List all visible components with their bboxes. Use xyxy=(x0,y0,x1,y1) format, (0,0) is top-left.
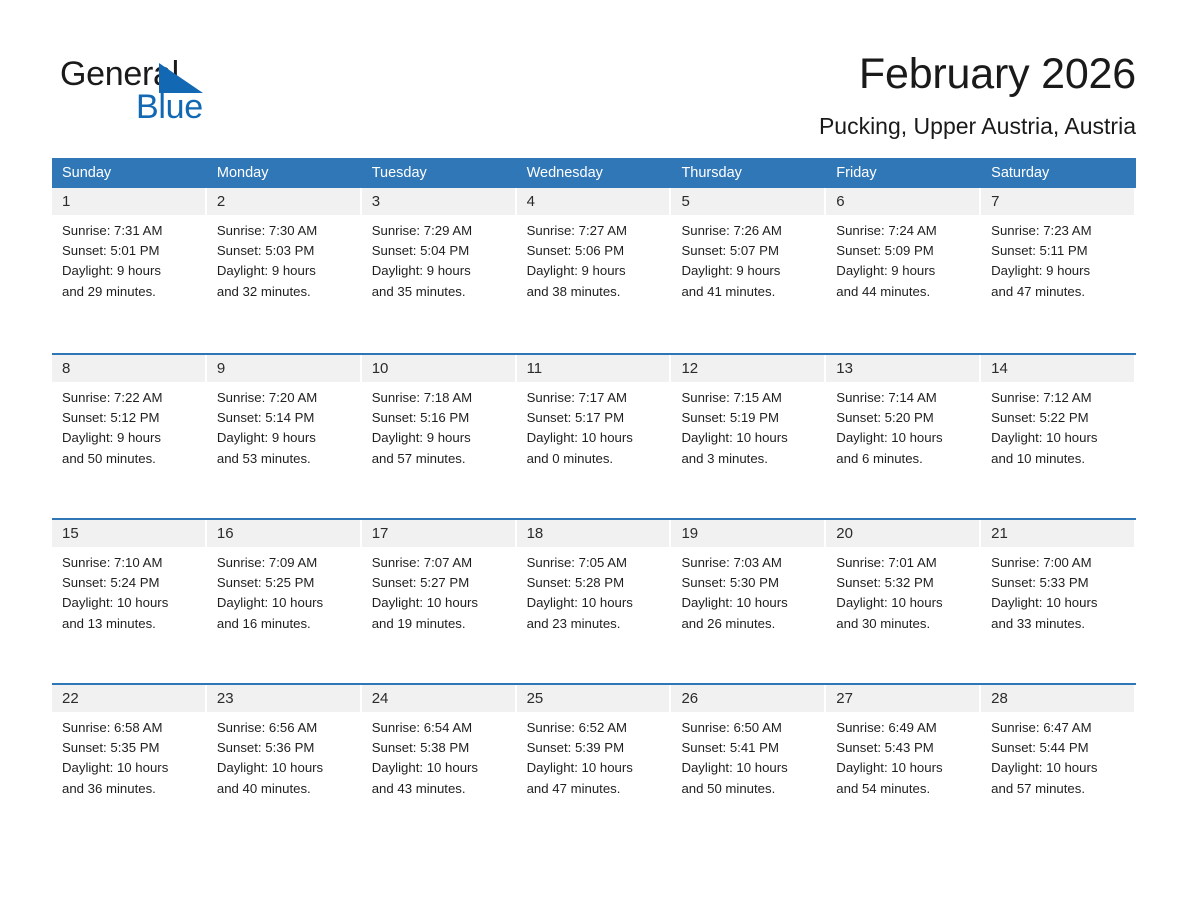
day-number: 17 xyxy=(362,520,515,547)
day-details: Sunrise: 7:18 AM Sunset: 5:16 PM Dayligh… xyxy=(362,382,517,469)
sunset-text: Sunset: 5:09 PM xyxy=(836,241,973,261)
daylight-text-line1: Daylight: 10 hours xyxy=(836,593,973,613)
day-cell[interactable]: 26 Sunrise: 6:50 AM Sunset: 5:41 PM Dayl… xyxy=(671,685,826,848)
day-number-band: 26 xyxy=(671,685,824,712)
daylight-text-line2: and 26 minutes. xyxy=(681,614,818,634)
day-details: Sunrise: 7:09 AM Sunset: 5:25 PM Dayligh… xyxy=(207,547,362,634)
daylight-text-line2: and 32 minutes. xyxy=(217,282,354,302)
daylight-text-line1: Daylight: 10 hours xyxy=(681,428,818,448)
sunrise-text: Sunrise: 6:49 AM xyxy=(836,718,973,738)
sunrise-text: Sunrise: 7:00 AM xyxy=(991,553,1128,573)
sunset-text: Sunset: 5:06 PM xyxy=(527,241,664,261)
daylight-text-line2: and 57 minutes. xyxy=(991,779,1128,799)
sunset-text: Sunset: 5:43 PM xyxy=(836,738,973,758)
sunset-text: Sunset: 5:25 PM xyxy=(217,573,354,593)
day-number-band: 8 xyxy=(52,355,205,382)
sunset-text: Sunset: 5:12 PM xyxy=(62,408,199,428)
daylight-text-line2: and 23 minutes. xyxy=(527,614,664,634)
day-details: Sunrise: 6:52 AM Sunset: 5:39 PM Dayligh… xyxy=(517,712,672,799)
daylight-text-line1: Daylight: 10 hours xyxy=(991,593,1128,613)
sunrise-text: Sunrise: 7:22 AM xyxy=(62,388,199,408)
day-number-band: 14 xyxy=(981,355,1134,382)
daylight-text-line2: and 53 minutes. xyxy=(217,449,354,469)
daylight-text-line1: Daylight: 10 hours xyxy=(836,758,973,778)
daylight-text-line1: Daylight: 9 hours xyxy=(527,261,664,281)
day-number: 25 xyxy=(517,685,670,712)
daylight-text-line1: Daylight: 9 hours xyxy=(372,261,509,281)
weekday-header-sunday: Sunday xyxy=(52,158,207,188)
weekday-header-monday: Monday xyxy=(207,158,362,188)
day-number-band: 16 xyxy=(207,520,360,547)
daylight-text-line1: Daylight: 9 hours xyxy=(217,261,354,281)
day-cell[interactable]: 17 Sunrise: 7:07 AM Sunset: 5:27 PM Dayl… xyxy=(362,520,517,683)
day-number-band: 21 xyxy=(981,520,1134,547)
day-number-band: 27 xyxy=(826,685,979,712)
day-number: 15 xyxy=(52,520,205,547)
sunset-text: Sunset: 5:32 PM xyxy=(836,573,973,593)
day-number-band: 1 xyxy=(52,188,205,215)
daylight-text-line2: and 47 minutes. xyxy=(527,779,664,799)
day-number-band: 4 xyxy=(517,188,670,215)
sunset-text: Sunset: 5:22 PM xyxy=(991,408,1128,428)
day-number: 14 xyxy=(981,355,1134,382)
sunrise-text: Sunrise: 7:29 AM xyxy=(372,221,509,241)
daylight-text-line1: Daylight: 9 hours xyxy=(836,261,973,281)
daylight-text-line1: Daylight: 10 hours xyxy=(217,758,354,778)
sunset-text: Sunset: 5:16 PM xyxy=(372,408,509,428)
sunrise-text: Sunrise: 7:20 AM xyxy=(217,388,354,408)
day-number-band: 7 xyxy=(981,188,1134,215)
daylight-text-line1: Daylight: 10 hours xyxy=(527,593,664,613)
day-number-band: 20 xyxy=(826,520,979,547)
daylight-text-line1: Daylight: 10 hours xyxy=(527,428,664,448)
sunrise-text: Sunrise: 7:03 AM xyxy=(681,553,818,573)
logo-text-blue: Blue xyxy=(136,87,203,127)
daylight-text-line1: Daylight: 9 hours xyxy=(681,261,818,281)
day-cell[interactable]: 21 Sunrise: 7:00 AM Sunset: 5:33 PM Dayl… xyxy=(981,520,1136,683)
day-cell[interactable]: 7 Sunrise: 7:23 AM Sunset: 5:11 PM Dayli… xyxy=(981,188,1136,353)
daylight-text-line1: Daylight: 9 hours xyxy=(217,428,354,448)
day-cell[interactable]: 23 Sunrise: 6:56 AM Sunset: 5:36 PM Dayl… xyxy=(207,685,362,848)
generalblue-logo[interactable]: General Blue xyxy=(60,54,320,134)
day-number: 22 xyxy=(52,685,205,712)
daylight-text-line1: Daylight: 9 hours xyxy=(62,261,199,281)
day-number-band: 2 xyxy=(207,188,360,215)
sunset-text: Sunset: 5:01 PM xyxy=(62,241,199,261)
daylight-text-line2: and 33 minutes. xyxy=(991,614,1128,634)
day-cell[interactable]: 20 Sunrise: 7:01 AM Sunset: 5:32 PM Dayl… xyxy=(826,520,981,683)
daylight-text-line1: Daylight: 10 hours xyxy=(991,428,1128,448)
sunset-text: Sunset: 5:04 PM xyxy=(372,241,509,261)
sunset-text: Sunset: 5:28 PM xyxy=(527,573,664,593)
day-details: Sunrise: 7:01 AM Sunset: 5:32 PM Dayligh… xyxy=(826,547,981,634)
sunset-text: Sunset: 5:36 PM xyxy=(217,738,354,758)
day-cell[interactable]: 27 Sunrise: 6:49 AM Sunset: 5:43 PM Dayl… xyxy=(826,685,981,848)
daylight-text-line2: and 6 minutes. xyxy=(836,449,973,469)
day-cell[interactable]: 18 Sunrise: 7:05 AM Sunset: 5:28 PM Dayl… xyxy=(517,520,672,683)
day-number-band: 15 xyxy=(52,520,205,547)
day-details: Sunrise: 6:50 AM Sunset: 5:41 PM Dayligh… xyxy=(671,712,826,799)
day-number: 21 xyxy=(981,520,1134,547)
sunset-text: Sunset: 5:35 PM xyxy=(62,738,199,758)
sunrise-text: Sunrise: 7:30 AM xyxy=(217,221,354,241)
daylight-text-line2: and 13 minutes. xyxy=(62,614,199,634)
sunrise-text: Sunrise: 7:10 AM xyxy=(62,553,199,573)
sunset-text: Sunset: 5:03 PM xyxy=(217,241,354,261)
page-subtitle: Pucking, Upper Austria, Austria xyxy=(436,112,1136,140)
day-number: 5 xyxy=(671,188,824,215)
day-cell[interactable]: 22 Sunrise: 6:58 AM Sunset: 5:35 PM Dayl… xyxy=(52,685,207,848)
week-row: 22 Sunrise: 6:58 AM Sunset: 5:35 PM Dayl… xyxy=(52,683,1136,848)
sunrise-text: Sunrise: 7:18 AM xyxy=(372,388,509,408)
daylight-text-line1: Daylight: 10 hours xyxy=(62,593,199,613)
sunset-text: Sunset: 5:33 PM xyxy=(991,573,1128,593)
sunset-text: Sunset: 5:20 PM xyxy=(836,408,973,428)
day-cell[interactable]: 9 Sunrise: 7:20 AM Sunset: 5:14 PM Dayli… xyxy=(207,355,362,518)
day-details: Sunrise: 6:47 AM Sunset: 5:44 PM Dayligh… xyxy=(981,712,1136,799)
daylight-text-line2: and 40 minutes. xyxy=(217,779,354,799)
day-details: Sunrise: 7:10 AM Sunset: 5:24 PM Dayligh… xyxy=(52,547,207,634)
day-details: Sunrise: 7:15 AM Sunset: 5:19 PM Dayligh… xyxy=(671,382,826,469)
daylight-text-line1: Daylight: 9 hours xyxy=(62,428,199,448)
sunset-text: Sunset: 5:24 PM xyxy=(62,573,199,593)
day-details: Sunrise: 7:29 AM Sunset: 5:04 PM Dayligh… xyxy=(362,215,517,302)
day-number-band: 17 xyxy=(362,520,515,547)
daylight-text-line2: and 29 minutes. xyxy=(62,282,199,302)
day-number-band: 3 xyxy=(362,188,515,215)
weekday-header-friday: Friday xyxy=(826,158,981,188)
day-number: 11 xyxy=(517,355,670,382)
day-details: Sunrise: 7:26 AM Sunset: 5:07 PM Dayligh… xyxy=(671,215,826,302)
sunrise-text: Sunrise: 6:50 AM xyxy=(681,718,818,738)
day-details: Sunrise: 7:03 AM Sunset: 5:30 PM Dayligh… xyxy=(671,547,826,634)
day-details: Sunrise: 7:14 AM Sunset: 5:20 PM Dayligh… xyxy=(826,382,981,469)
day-details: Sunrise: 6:49 AM Sunset: 5:43 PM Dayligh… xyxy=(826,712,981,799)
title-block: February 2026 Pucking, Upper Austria, Au… xyxy=(436,48,1136,140)
sunrise-text: Sunrise: 6:56 AM xyxy=(217,718,354,738)
day-number: 8 xyxy=(52,355,205,382)
day-cell[interactable]: 6 Sunrise: 7:24 AM Sunset: 5:09 PM Dayli… xyxy=(826,188,981,353)
day-number-band: 18 xyxy=(517,520,670,547)
sunset-text: Sunset: 5:14 PM xyxy=(217,408,354,428)
day-cell[interactable]: 11 Sunrise: 7:17 AM Sunset: 5:17 PM Dayl… xyxy=(517,355,672,518)
sunrise-text: Sunrise: 7:14 AM xyxy=(836,388,973,408)
sunset-text: Sunset: 5:30 PM xyxy=(681,573,818,593)
day-details: Sunrise: 7:24 AM Sunset: 5:09 PM Dayligh… xyxy=(826,215,981,302)
calendar-grid: Sunday Monday Tuesday Wednesday Thursday… xyxy=(52,158,1136,848)
daylight-text-line2: and 3 minutes. xyxy=(681,449,818,469)
day-details: Sunrise: 7:12 AM Sunset: 5:22 PM Dayligh… xyxy=(981,382,1136,469)
daylight-text-line2: and 41 minutes. xyxy=(681,282,818,302)
daylight-text-line2: and 36 minutes. xyxy=(62,779,199,799)
daylight-text-line2: and 35 minutes. xyxy=(372,282,509,302)
day-number: 12 xyxy=(671,355,824,382)
daylight-text-line2: and 44 minutes. xyxy=(836,282,973,302)
day-number: 19 xyxy=(671,520,824,547)
day-number: 27 xyxy=(826,685,979,712)
day-number-band: 12 xyxy=(671,355,824,382)
sunset-text: Sunset: 5:07 PM xyxy=(681,241,818,261)
calendar-page: General Blue February 2026 Pucking, Uppe… xyxy=(0,0,1188,918)
daylight-text-line1: Daylight: 10 hours xyxy=(836,428,973,448)
sunrise-text: Sunrise: 7:26 AM xyxy=(681,221,818,241)
sunset-text: Sunset: 5:41 PM xyxy=(681,738,818,758)
page-title: February 2026 xyxy=(436,48,1136,100)
day-cell[interactable]: 15 Sunrise: 7:10 AM Sunset: 5:24 PM Dayl… xyxy=(52,520,207,683)
day-details: Sunrise: 6:58 AM Sunset: 5:35 PM Dayligh… xyxy=(52,712,207,799)
day-number: 2 xyxy=(207,188,360,215)
sunrise-text: Sunrise: 7:12 AM xyxy=(991,388,1128,408)
day-number: 23 xyxy=(207,685,360,712)
weekday-header-saturday: Saturday xyxy=(981,158,1136,188)
day-number: 13 xyxy=(826,355,979,382)
day-number-band: 23 xyxy=(207,685,360,712)
daylight-text-line1: Daylight: 9 hours xyxy=(372,428,509,448)
day-number: 26 xyxy=(671,685,824,712)
week-row: 8 Sunrise: 7:22 AM Sunset: 5:12 PM Dayli… xyxy=(52,353,1136,518)
day-cell[interactable]: 13 Sunrise: 7:14 AM Sunset: 5:20 PM Dayl… xyxy=(826,355,981,518)
day-number-band: 28 xyxy=(981,685,1134,712)
day-details: Sunrise: 6:56 AM Sunset: 5:36 PM Dayligh… xyxy=(207,712,362,799)
sunset-text: Sunset: 5:44 PM xyxy=(991,738,1128,758)
day-number: 7 xyxy=(981,188,1134,215)
sunset-text: Sunset: 5:17 PM xyxy=(527,408,664,428)
daylight-text-line1: Daylight: 10 hours xyxy=(681,593,818,613)
daylight-text-line2: and 54 minutes. xyxy=(836,779,973,799)
day-cell[interactable]: 3 Sunrise: 7:29 AM Sunset: 5:04 PM Dayli… xyxy=(362,188,517,353)
weekday-header-thursday: Thursday xyxy=(671,158,826,188)
day-number: 16 xyxy=(207,520,360,547)
day-number: 1 xyxy=(52,188,205,215)
daylight-text-line1: Daylight: 10 hours xyxy=(681,758,818,778)
day-number: 9 xyxy=(207,355,360,382)
day-cell[interactable]: 19 Sunrise: 7:03 AM Sunset: 5:30 PM Dayl… xyxy=(671,520,826,683)
day-details: Sunrise: 7:07 AM Sunset: 5:27 PM Dayligh… xyxy=(362,547,517,634)
daylight-text-line2: and 30 minutes. xyxy=(836,614,973,634)
sunrise-text: Sunrise: 6:47 AM xyxy=(991,718,1128,738)
daylight-text-line2: and 16 minutes. xyxy=(217,614,354,634)
daylight-text-line2: and 47 minutes. xyxy=(991,282,1128,302)
day-number-band: 25 xyxy=(517,685,670,712)
day-number-band: 22 xyxy=(52,685,205,712)
day-number: 3 xyxy=(362,188,515,215)
day-number: 4 xyxy=(517,188,670,215)
day-number-band: 5 xyxy=(671,188,824,215)
day-number: 10 xyxy=(362,355,515,382)
day-details: Sunrise: 7:31 AM Sunset: 5:01 PM Dayligh… xyxy=(52,215,207,302)
day-number: 24 xyxy=(362,685,515,712)
day-number: 6 xyxy=(826,188,979,215)
day-cell[interactable]: 25 Sunrise: 6:52 AM Sunset: 5:39 PM Dayl… xyxy=(517,685,672,848)
sunrise-text: Sunrise: 7:15 AM xyxy=(681,388,818,408)
day-cell[interactable]: 16 Sunrise: 7:09 AM Sunset: 5:25 PM Dayl… xyxy=(207,520,362,683)
day-cell[interactable]: 12 Sunrise: 7:15 AM Sunset: 5:19 PM Dayl… xyxy=(671,355,826,518)
day-cell[interactable]: 28 Sunrise: 6:47 AM Sunset: 5:44 PM Dayl… xyxy=(981,685,1136,848)
daylight-text-line2: and 43 minutes. xyxy=(372,779,509,799)
day-cell[interactable]: 5 Sunrise: 7:26 AM Sunset: 5:07 PM Dayli… xyxy=(671,188,826,353)
day-number: 28 xyxy=(981,685,1134,712)
sunset-text: Sunset: 5:27 PM xyxy=(372,573,509,593)
day-number-band: 10 xyxy=(362,355,515,382)
day-details: Sunrise: 7:27 AM Sunset: 5:06 PM Dayligh… xyxy=(517,215,672,302)
day-details: Sunrise: 7:00 AM Sunset: 5:33 PM Dayligh… xyxy=(981,547,1136,634)
week-row: 15 Sunrise: 7:10 AM Sunset: 5:24 PM Dayl… xyxy=(52,518,1136,683)
daylight-text-line1: Daylight: 10 hours xyxy=(372,593,509,613)
daylight-text-line1: Daylight: 10 hours xyxy=(217,593,354,613)
sunrise-text: Sunrise: 7:01 AM xyxy=(836,553,973,573)
day-cell[interactable]: 2 Sunrise: 7:30 AM Sunset: 5:03 PM Dayli… xyxy=(207,188,362,353)
day-cell[interactable]: 8 Sunrise: 7:22 AM Sunset: 5:12 PM Dayli… xyxy=(52,355,207,518)
sunrise-text: Sunrise: 6:58 AM xyxy=(62,718,199,738)
day-cell[interactable]: 14 Sunrise: 7:12 AM Sunset: 5:22 PM Dayl… xyxy=(981,355,1136,518)
sunrise-text: Sunrise: 7:27 AM xyxy=(527,221,664,241)
sunset-text: Sunset: 5:11 PM xyxy=(991,241,1128,261)
day-cell[interactable]: 24 Sunrise: 6:54 AM Sunset: 5:38 PM Dayl… xyxy=(362,685,517,848)
sunrise-text: Sunrise: 6:54 AM xyxy=(372,718,509,738)
daylight-text-line2: and 10 minutes. xyxy=(991,449,1128,469)
daylight-text-line2: and 50 minutes. xyxy=(681,779,818,799)
sunset-text: Sunset: 5:39 PM xyxy=(527,738,664,758)
day-details: Sunrise: 7:17 AM Sunset: 5:17 PM Dayligh… xyxy=(517,382,672,469)
day-details: Sunrise: 7:05 AM Sunset: 5:28 PM Dayligh… xyxy=(517,547,672,634)
day-cell[interactable]: 4 Sunrise: 7:27 AM Sunset: 5:06 PM Dayli… xyxy=(517,188,672,353)
day-number-band: 6 xyxy=(826,188,979,215)
day-number-band: 11 xyxy=(517,355,670,382)
sunset-text: Sunset: 5:19 PM xyxy=(681,408,818,428)
day-number: 18 xyxy=(517,520,670,547)
daylight-text-line2: and 0 minutes. xyxy=(527,449,664,469)
sunrise-text: Sunrise: 7:31 AM xyxy=(62,221,199,241)
day-details: Sunrise: 7:20 AM Sunset: 5:14 PM Dayligh… xyxy=(207,382,362,469)
daylight-text-line1: Daylight: 10 hours xyxy=(62,758,199,778)
day-number-band: 19 xyxy=(671,520,824,547)
sunrise-text: Sunrise: 7:24 AM xyxy=(836,221,973,241)
week-row: 1 Sunrise: 7:31 AM Sunset: 5:01 PM Dayli… xyxy=(52,188,1136,353)
day-number-band: 9 xyxy=(207,355,360,382)
day-details: Sunrise: 6:54 AM Sunset: 5:38 PM Dayligh… xyxy=(362,712,517,799)
daylight-text-line1: Daylight: 10 hours xyxy=(527,758,664,778)
day-details: Sunrise: 7:23 AM Sunset: 5:11 PM Dayligh… xyxy=(981,215,1136,302)
day-cell[interactable]: 10 Sunrise: 7:18 AM Sunset: 5:16 PM Dayl… xyxy=(362,355,517,518)
daylight-text-line1: Daylight: 10 hours xyxy=(372,758,509,778)
daylight-text-line1: Daylight: 10 hours xyxy=(991,758,1128,778)
weekday-header-wednesday: Wednesday xyxy=(517,158,672,188)
sunset-text: Sunset: 5:38 PM xyxy=(372,738,509,758)
day-number-band: 13 xyxy=(826,355,979,382)
weekday-header-tuesday: Tuesday xyxy=(362,158,517,188)
daylight-text-line2: and 50 minutes. xyxy=(62,449,199,469)
sunrise-text: Sunrise: 7:17 AM xyxy=(527,388,664,408)
day-cell[interactable]: 1 Sunrise: 7:31 AM Sunset: 5:01 PM Dayli… xyxy=(52,188,207,353)
day-details: Sunrise: 7:30 AM Sunset: 5:03 PM Dayligh… xyxy=(207,215,362,302)
daylight-text-line1: Daylight: 9 hours xyxy=(991,261,1128,281)
day-number: 20 xyxy=(826,520,979,547)
daylight-text-line2: and 19 minutes. xyxy=(372,614,509,634)
sunrise-text: Sunrise: 7:05 AM xyxy=(527,553,664,573)
daylight-text-line2: and 57 minutes. xyxy=(372,449,509,469)
weekday-header-row: Sunday Monday Tuesday Wednesday Thursday… xyxy=(52,158,1136,188)
day-details: Sunrise: 7:22 AM Sunset: 5:12 PM Dayligh… xyxy=(52,382,207,469)
sunrise-text: Sunrise: 7:23 AM xyxy=(991,221,1128,241)
daylight-text-line2: and 38 minutes. xyxy=(527,282,664,302)
sunrise-text: Sunrise: 6:52 AM xyxy=(527,718,664,738)
day-number-band: 24 xyxy=(362,685,515,712)
sunrise-text: Sunrise: 7:07 AM xyxy=(372,553,509,573)
sunrise-text: Sunrise: 7:09 AM xyxy=(217,553,354,573)
page-header: General Blue February 2026 Pucking, Uppe… xyxy=(52,48,1136,148)
